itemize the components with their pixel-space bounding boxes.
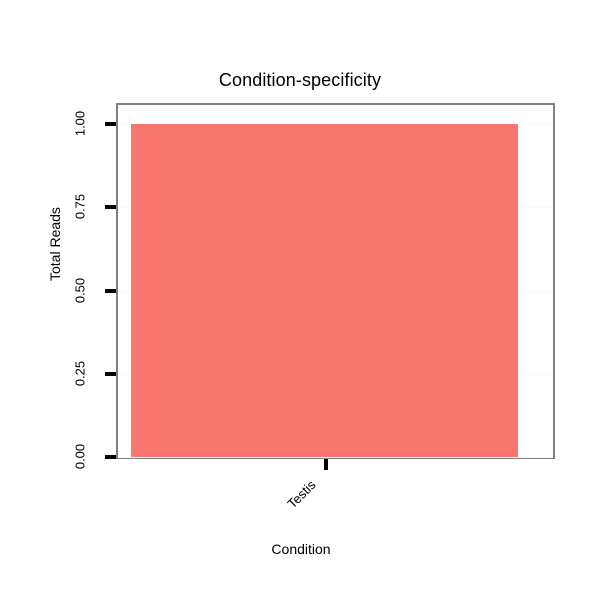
bar-testis [131, 124, 518, 457]
y-tick-mark-5 [105, 455, 116, 459]
chart-title: Condition-specificity [0, 69, 600, 91]
y-tick-mark-1 [105, 122, 116, 126]
y-tick-mark-3 [105, 289, 116, 293]
plot-panel-inner [118, 105, 553, 457]
y-tick-mark-4 [105, 372, 116, 376]
gridline-0.00 [118, 457, 553, 458]
plot-panel [116, 103, 555, 459]
y-axis-title: Total Reads [48, 207, 62, 281]
y-tick-label-0.75: 0.75 [74, 187, 87, 227]
x-tick-mark-testis [324, 459, 328, 470]
y-tick-mark-2 [105, 205, 116, 209]
y-tick-label-0.25: 0.25 [74, 354, 87, 394]
x-tick-label-testis: Testis [285, 478, 318, 511]
y-tick-label-0.50: 0.50 [74, 271, 87, 311]
bar-chart: Condition-specificity Total Reads 1.00 0… [0, 0, 600, 600]
x-axis-title: Condition [1, 541, 600, 557]
y-tick-label-0.00: 0.00 [74, 437, 87, 477]
y-tick-label-1.00: 1.00 [74, 104, 87, 144]
